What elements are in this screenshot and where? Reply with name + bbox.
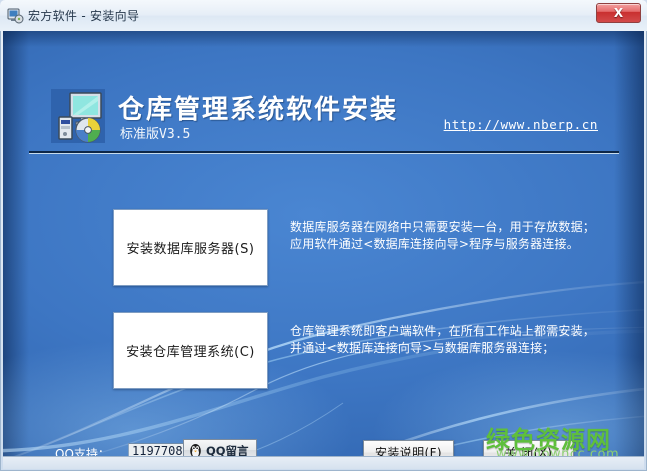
window-title: 宏方软件 - 安装向导 bbox=[28, 7, 139, 24]
divider-light-line bbox=[29, 153, 619, 154]
computer-cd-installer-icon bbox=[51, 89, 105, 143]
install-database-server-description: 数据库服务器在网络中只需要安装一台，用于存放数据； 应用软件通过<数据库连接向导… bbox=[290, 219, 595, 253]
desc-db-line2: 应用软件通过<数据库连接向导>程序与服务器连接。 bbox=[290, 236, 595, 253]
install-database-server-button[interactable]: 安装数据库服务器(S) bbox=[113, 209, 268, 286]
status-strip bbox=[3, 456, 644, 469]
install-warehouse-system-description: 仓库管理系统即客户端软件，在所有工作站上都需安装， 并通过<数据库连接向导>与数… bbox=[290, 323, 595, 357]
install-warehouse-system-button[interactable]: 安装仓库管理系统(C) bbox=[113, 312, 268, 389]
desc-db-line1: 数据库服务器在网络中只需要安装一台，用于存放数据； bbox=[290, 219, 595, 236]
install-database-server-label: 安装数据库服务器(S) bbox=[114, 210, 267, 285]
desc-app-line1: 仓库管理系统即客户端软件，在所有工作站上都需安装， bbox=[290, 323, 595, 340]
installer-icon bbox=[7, 7, 24, 24]
installer-window: 宏方软件 - 安装向导 X bbox=[0, 0, 647, 471]
client-area: 仓库管理系统软件安装 标准版V3.5 http://www.nberp.cn 安… bbox=[3, 31, 644, 468]
install-warehouse-system-label: 安装仓库管理系统(C) bbox=[114, 313, 267, 388]
page-title: 仓库管理系统软件安装 bbox=[118, 89, 398, 126]
close-icon: X bbox=[597, 4, 640, 22]
header-divider bbox=[29, 151, 619, 154]
website-link[interactable]: http://www.nberp.cn bbox=[444, 117, 598, 132]
desc-app-line2: 并通过<数据库连接向导>与数据库服务器连接； bbox=[290, 340, 595, 357]
window-close-button[interactable]: X bbox=[596, 3, 641, 23]
version-label: 标准版V3.5 bbox=[120, 123, 190, 142]
title-bar: 宏方软件 - 安装向导 X bbox=[0, 0, 647, 31]
